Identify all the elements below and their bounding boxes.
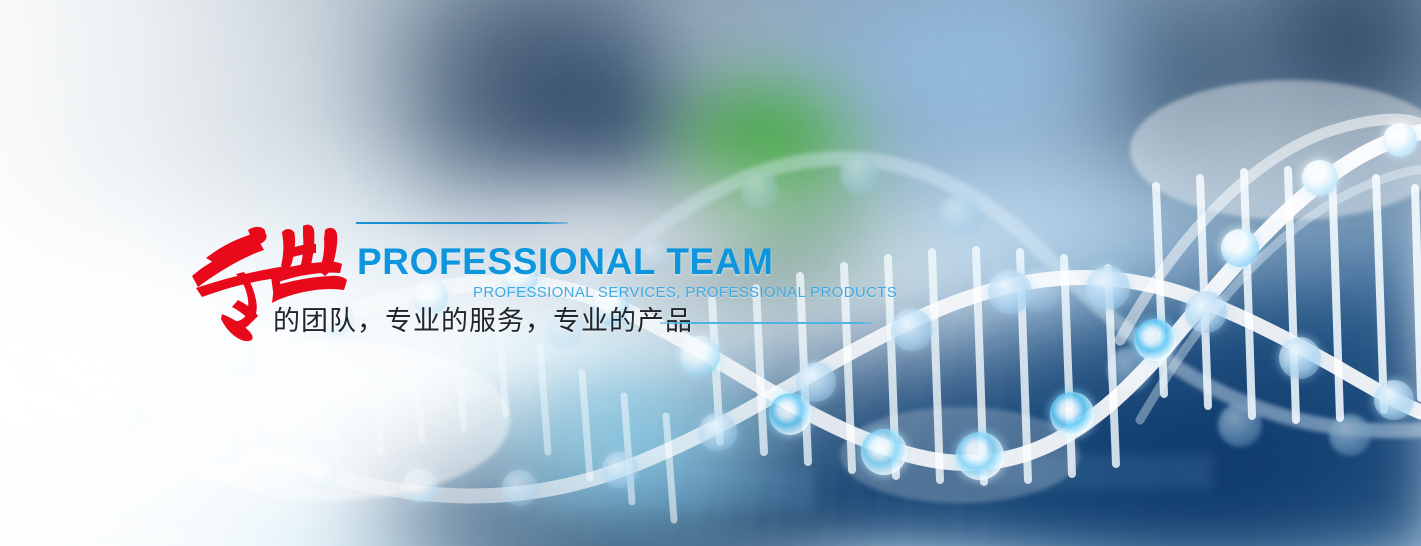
background-ghost-text-1 <box>545 470 815 510</box>
hero-banner: PROFESSIONAL TEAM PROFESSIONAL SERVICES,… <box>0 0 1421 546</box>
calligraphy-zhuanye-icon <box>186 214 348 342</box>
background-ghost-text-2 <box>1000 455 1210 489</box>
